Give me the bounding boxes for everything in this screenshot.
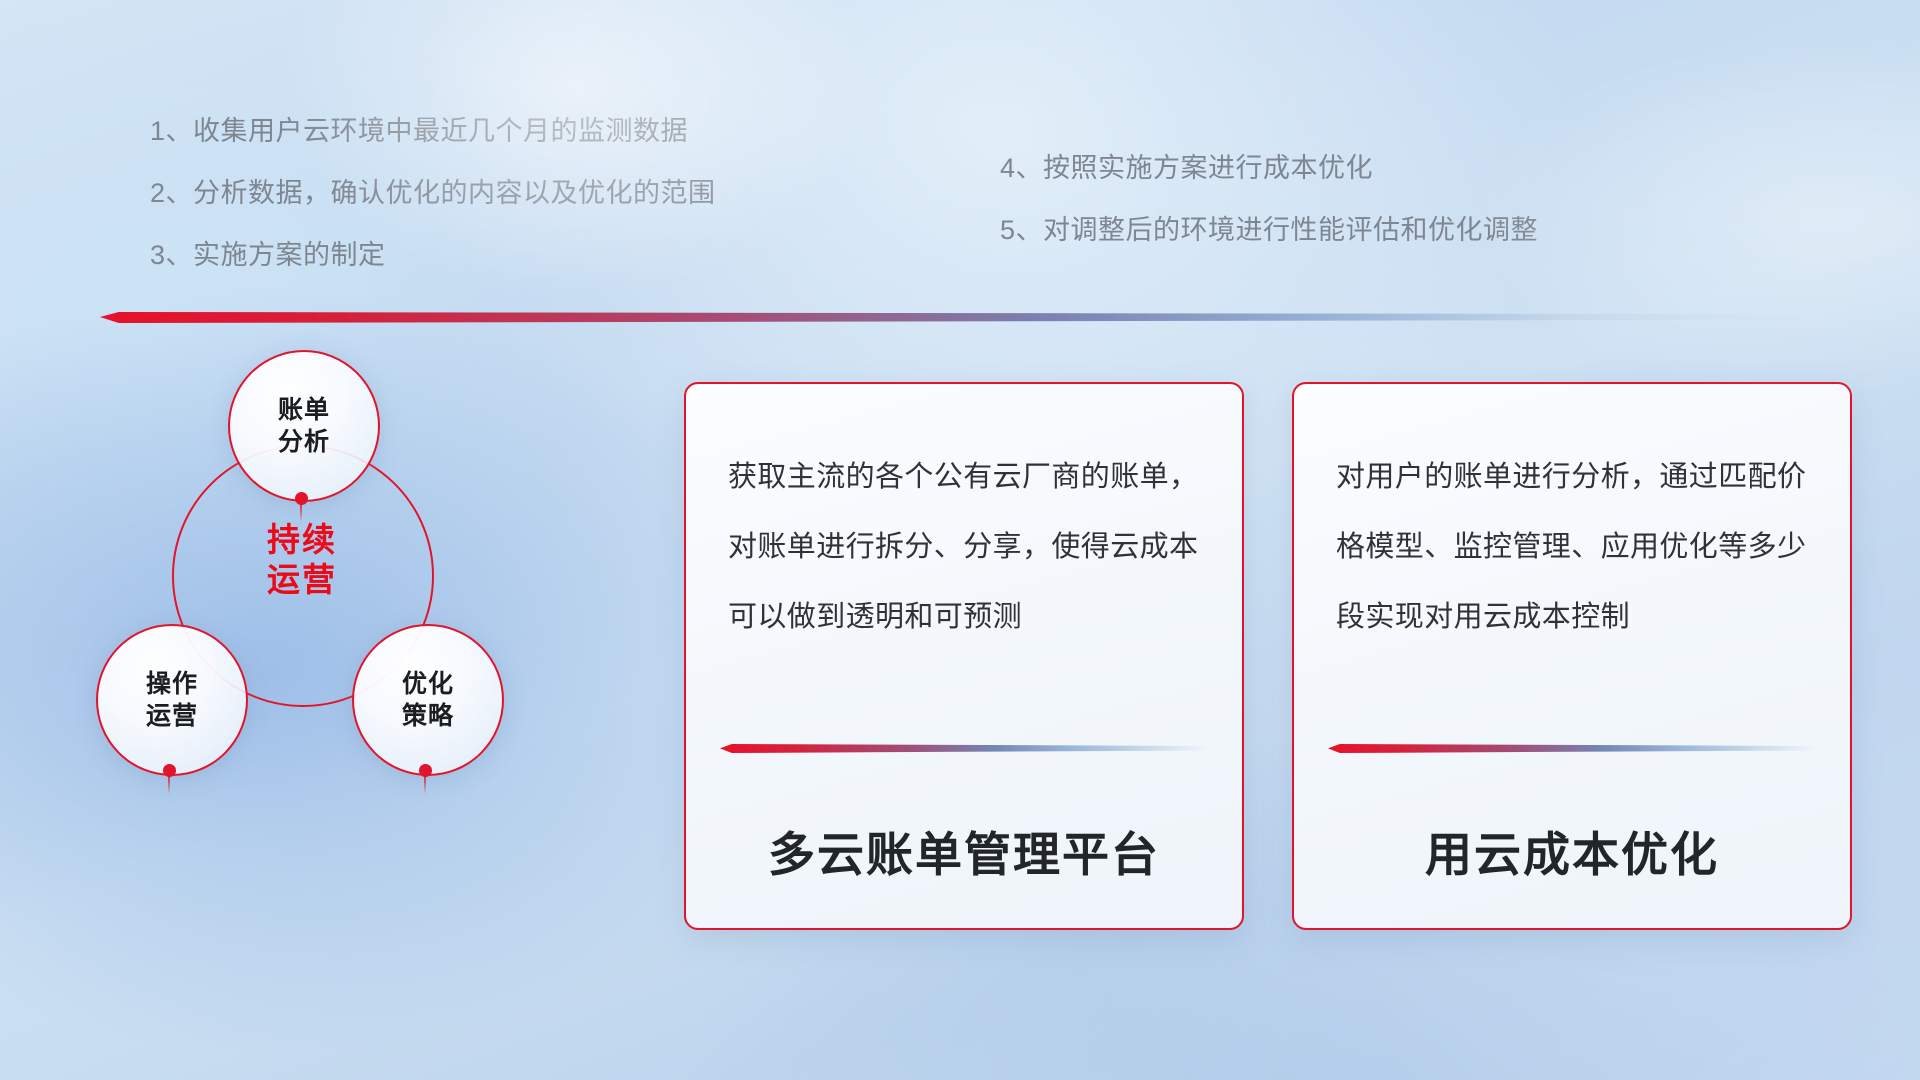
venn-node-billing-analysis[interactable]: 账单 分析 [228, 350, 380, 502]
bullet-list-right: 4、按照实施方案进行成本优化 5、对调整后的环境进行性能评估和优化调整 [1000, 155, 1538, 279]
card-divider [720, 744, 1210, 753]
section-divider [100, 312, 1800, 323]
bullet-item: 4、按照实施方案进行成本优化 [1000, 155, 1538, 182]
venn-node-label-line-2: 运营 [146, 700, 198, 733]
card-title: 多云账单管理平台 [686, 816, 1242, 885]
feature-card-multicloud-billing[interactable]: 获取主流的各个公有云厂商的账单，对账单进行拆分、分享，使得云成本可以做到透明和可… [684, 382, 1244, 930]
venn-node-label-line-1: 操作 [146, 668, 198, 701]
venn-node-label-line-1: 账单 [278, 394, 330, 427]
venn-node-label-line-2: 策略 [402, 700, 454, 733]
card-body-text: 获取主流的各个公有云厂商的账单，对账单进行拆分、分享，使得云成本可以做到透明和可… [728, 442, 1204, 653]
center-label-line-2: 运营 [232, 560, 372, 600]
node-tail-icon [168, 774, 170, 794]
bullet-list-left: 1、收集用户云环境中最近几个月的监测数据 2、分析数据，确认优化的内容以及优化的… [150, 118, 716, 304]
venn-node-optimization-strategy[interactable]: 优化 策略 [352, 624, 504, 776]
bullet-item: 1、收集用户云环境中最近几个月的监测数据 [150, 118, 716, 145]
feature-card-cloud-cost-optimization[interactable]: 对用户的账单进行分析，通过匹配价格模型、监控管理、应用优化等多少段实现对用云成本… [1292, 382, 1852, 930]
slide-stage: 1、收集用户云环境中最近几个月的监测数据 2、分析数据，确认优化的内容以及优化的… [0, 0, 1920, 1080]
center-label: 持续 运营 [232, 520, 372, 601]
card-body-text: 对用户的账单进行分析，通过匹配价格模型、监控管理、应用优化等多少段实现对用云成本… [1336, 442, 1812, 653]
venn-node-label-line-1: 优化 [402, 668, 454, 701]
bullet-item: 5、对调整后的环境进行性能评估和优化调整 [1000, 217, 1538, 244]
node-tail-icon [300, 502, 302, 522]
card-title: 用云成本优化 [1294, 816, 1850, 885]
node-tail-icon [424, 774, 426, 794]
node-dot-icon [295, 492, 308, 505]
card-divider [1328, 744, 1818, 753]
venn-node-operations[interactable]: 操作 运营 [96, 624, 248, 776]
center-label-line-1: 持续 [232, 520, 372, 560]
bullet-item: 3、实施方案的制定 [150, 242, 716, 269]
bullet-item: 2、分析数据，确认优化的内容以及优化的范围 [150, 180, 716, 207]
venn-diagram: 持续 运营 账单 分析 操作 运营 优化 策略 [80, 350, 550, 790]
node-dot-icon [163, 764, 176, 777]
node-dot-icon [419, 764, 432, 777]
venn-node-label-line-2: 分析 [278, 426, 330, 459]
